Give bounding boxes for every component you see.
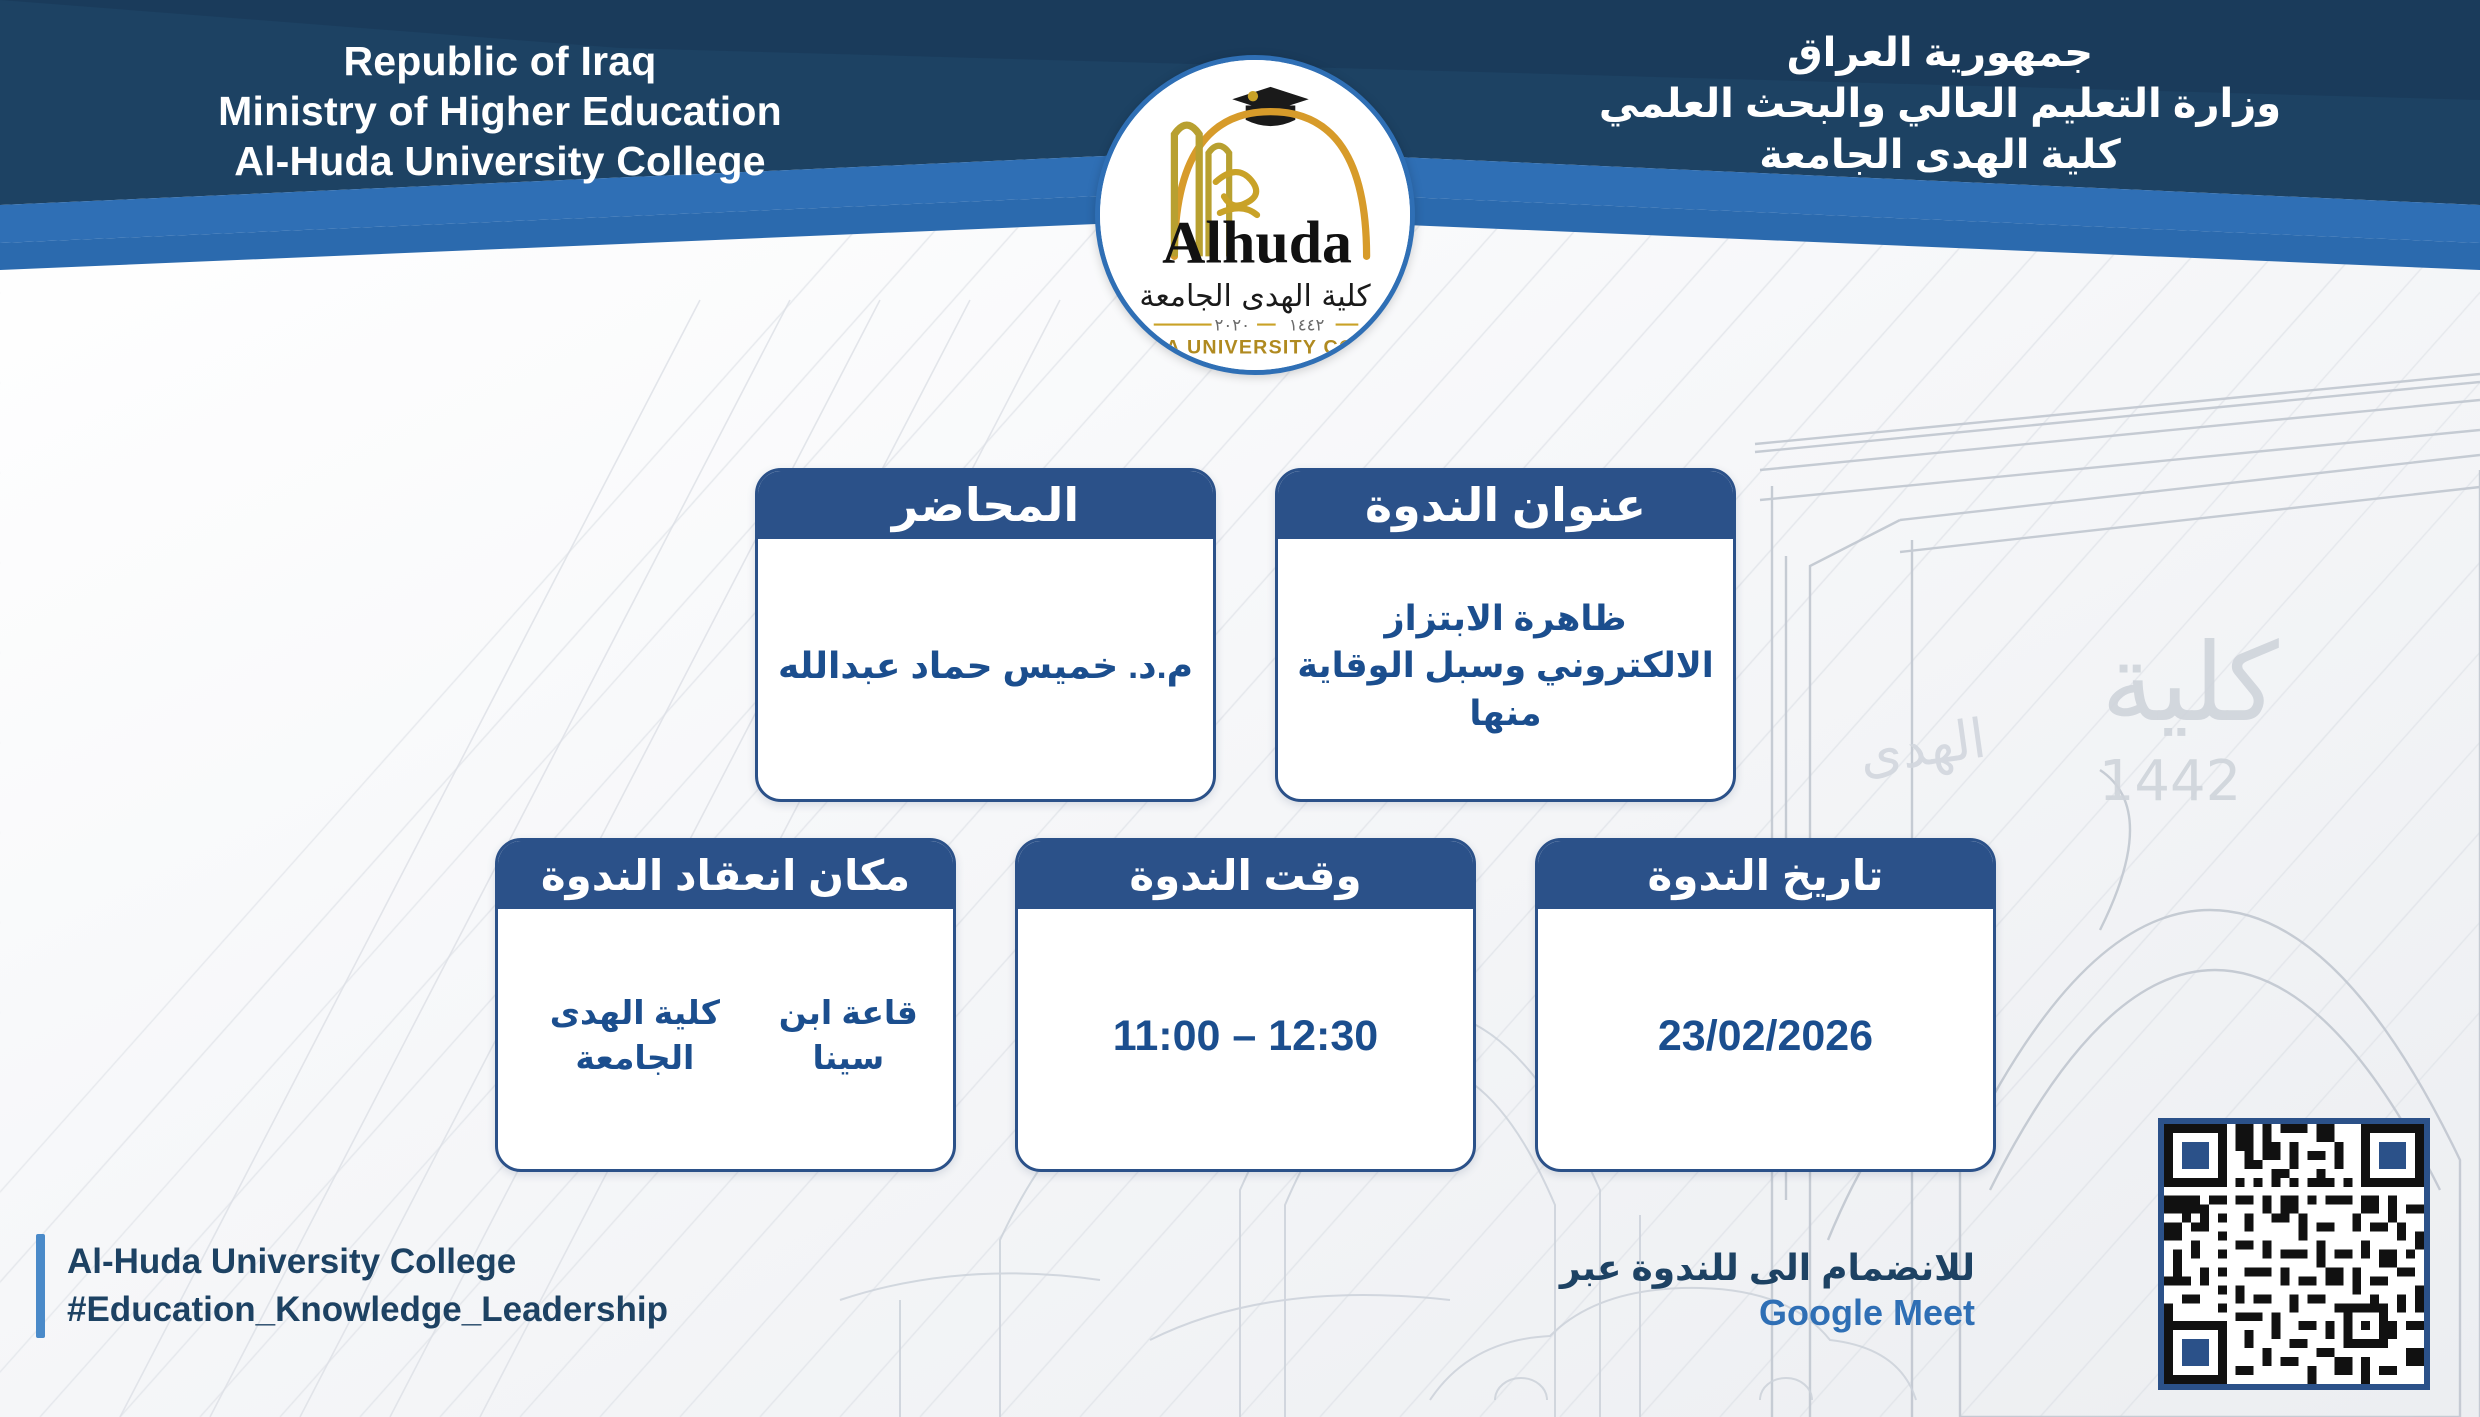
header-right-line-1: جمهورية العراق: [1500, 28, 2380, 79]
footer-hashtag: #Education_Knowledge_Leadership: [67, 1286, 668, 1334]
card-place: مكان انعقاد الندوة قاعة ابن سيناكلية اله…: [495, 838, 956, 1172]
accent-bar: [36, 1234, 45, 1338]
header-right-line-3: كلية الهدى الجامعة: [1500, 130, 2380, 181]
card-lecturer: المحاضر م.د. خميس حماد عبدالله: [755, 468, 1216, 802]
header-left-line-1: Republic of Iraq: [120, 36, 880, 86]
footer-college-name: Al-Huda University College: [67, 1238, 668, 1286]
card-seminar-title-heading: عنوان الندوة: [1278, 471, 1733, 539]
header-left-text: Republic of Iraq Ministry of Higher Educ…: [120, 36, 880, 186]
svg-text:كلية: كلية: [2101, 621, 2279, 746]
logo-year-gregorian: ٢٠٢٠: [1215, 316, 1250, 335]
card-date-value: 23/02/2026: [1538, 909, 1993, 1163]
card-date-title: تاريخ الندوة: [1538, 841, 1993, 909]
card-date: تاريخ الندوة 23/02/2026: [1535, 838, 1996, 1172]
header-left-line-3: Al-Huda University College: [120, 136, 880, 186]
logo-artwork: Alhuda كلية الهدى الجامعة ٢٠٢٠ ١٤٤٢ AL-H…: [1100, 60, 1410, 370]
card-seminar-title-value: ظاهرة الابتزاز الالكتروني وسبل الوقاية م…: [1278, 539, 1733, 793]
footer-branding: Al-Huda University College #Education_Kn…: [36, 1232, 796, 1340]
logo-wordmark: Alhuda: [1162, 210, 1352, 276]
header-right-line-2: وزارة التعليم العالي والبحث العلمي: [1500, 79, 2380, 130]
join-arabic-text: للانضمام الى للندوة عبر: [1355, 1248, 1975, 1288]
footer-text-block: Al-Huda University College #Education_Kn…: [67, 1238, 668, 1333]
svg-text:1442: 1442: [2099, 749, 2242, 814]
header-left-line-2: Ministry of Higher Education: [120, 86, 880, 136]
seminar-poster: كلية 1442 الهدى: [0, 0, 2480, 1417]
card-time-value: 11:00 – 12:30: [1018, 909, 1473, 1163]
join-instructions: للانضمام الى للندوة عبر Google Meet: [1355, 1248, 1975, 1333]
card-time: وقت الندوة 11:00 – 12:30: [1015, 838, 1476, 1172]
card-time-title: وقت الندوة: [1018, 841, 1473, 909]
card-place-value: قاعة ابن سيناكلية الهدى الجامعة: [498, 909, 953, 1163]
qr-code[interactable]: [2158, 1118, 2430, 1390]
card-seminar-title: عنوان الندوة ظاهرة الابتزاز الالكتروني و…: [1275, 468, 1736, 802]
header-right-text: جمهورية العراق وزارة التعليم العالي والب…: [1500, 28, 2380, 182]
qr-code-matrix[interactable]: [2164, 1124, 2424, 1384]
card-place-title: مكان انعقاد الندوة: [498, 841, 953, 909]
join-platform-name: Google Meet: [1355, 1292, 1975, 1333]
card-lecturer-title: المحاضر: [758, 471, 1213, 539]
logo-year-hijri: ١٤٤٢: [1289, 316, 1325, 335]
logo-arabic-name: كلية الهدى الجامعة: [1139, 279, 1371, 314]
card-lecturer-value: م.د. خميس حماد عبدالله: [758, 539, 1213, 793]
university-logo: Alhuda كلية الهدى الجامعة ٢٠٢٠ ١٤٤٢ AL-H…: [1095, 55, 1415, 375]
